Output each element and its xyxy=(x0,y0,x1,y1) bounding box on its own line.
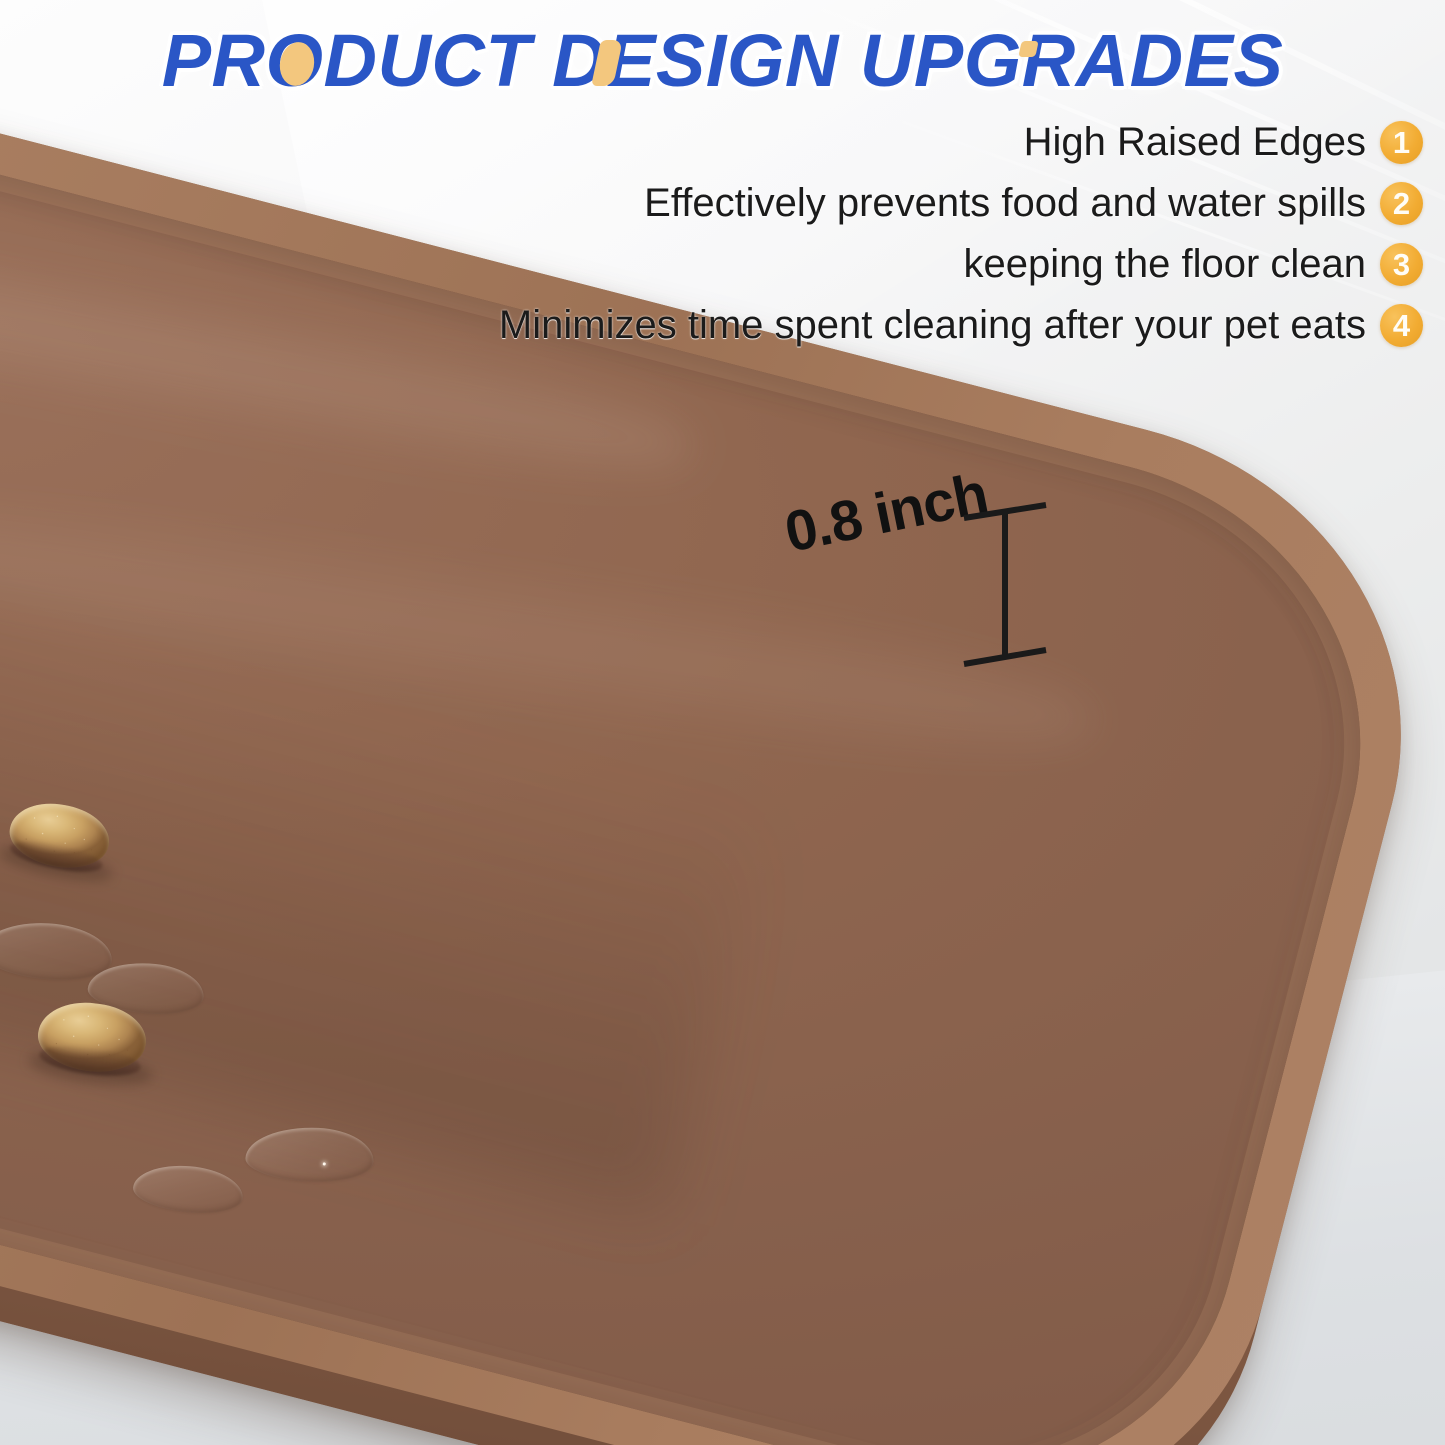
feature-label: keeping the floor clean xyxy=(964,244,1367,284)
list-item: High Raised Edges 1 xyxy=(403,116,1423,168)
status-badge: 1 xyxy=(1380,121,1423,164)
status-badge: 4 xyxy=(1380,304,1423,347)
dimension-line-icon xyxy=(958,498,1050,670)
feature-label: Minimizes time spent cleaning after your… xyxy=(499,305,1366,345)
list-item: Effectively prevents food and water spil… xyxy=(403,177,1423,229)
list-item: keeping the floor clean 3 xyxy=(403,238,1423,290)
feature-label: High Raised Edges xyxy=(1024,122,1366,162)
status-badge: 2 xyxy=(1380,182,1423,225)
product-marketing-image: 0.8 inch PRODUCT DESIGN UPGRADES High Ra… xyxy=(0,0,1445,1445)
page-title: PRODUCT DESIGN UPGRADES xyxy=(0,18,1445,103)
feature-list: High Raised Edges 1 Effectively prevents… xyxy=(403,116,1423,360)
list-item: Minimizes time spent cleaning after your… xyxy=(403,299,1423,351)
feature-label: Effectively prevents food and water spil… xyxy=(644,183,1366,223)
status-badge: 3 xyxy=(1380,243,1423,286)
